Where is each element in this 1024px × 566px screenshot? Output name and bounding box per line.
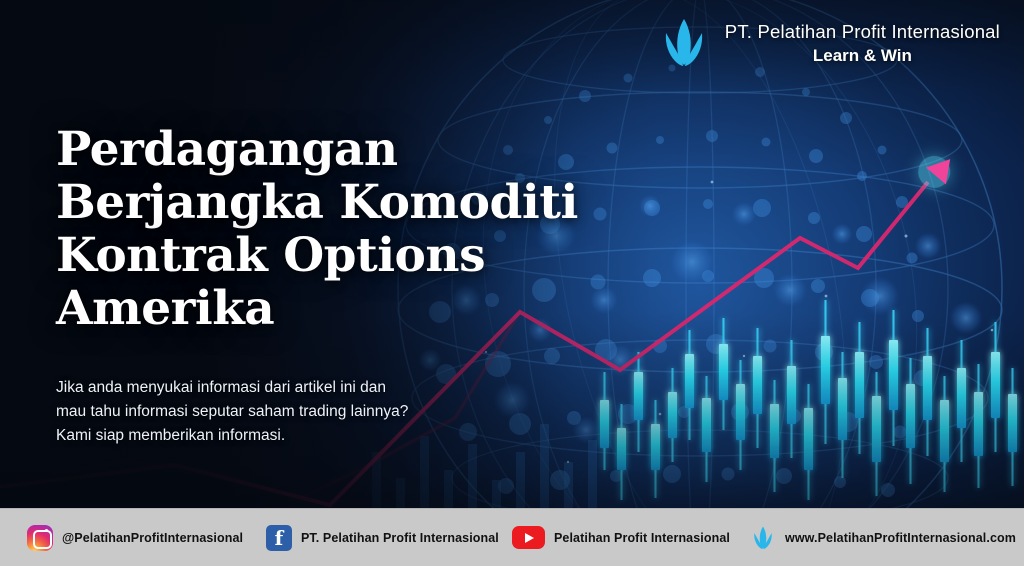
- facebook-page-name: PT. Pelatihan Profit Internasional: [301, 531, 499, 545]
- page-title: Perdagangan Berjangka Komoditi Kontrak O…: [56, 123, 696, 335]
- social-link-youtube[interactable]: Pelatihan Profit Internasional: [512, 526, 730, 549]
- banner-subtext: Jika anda menyukai informasi dari artike…: [56, 376, 576, 448]
- lotus-icon: [657, 16, 711, 70]
- brand-lockup: PT. Pelatihan Profit Internasional Learn…: [657, 16, 1000, 70]
- social-link-facebook[interactable]: f PT. Pelatihan Profit Internasional: [266, 525, 499, 551]
- social-footer-bar: @PelatihanProfitInternasional f PT. Pela…: [0, 508, 1024, 566]
- promotional-banner: PT. Pelatihan Profit Internasional Learn…: [0, 0, 1024, 566]
- facebook-icon: f: [266, 525, 292, 551]
- website-url: www.PelatihanProfitInternasional.com: [785, 531, 1016, 545]
- youtube-icon: [512, 526, 545, 549]
- brand-company: PT. Pelatihan Profit Internasional: [725, 20, 1000, 44]
- lotus-icon: [750, 525, 776, 551]
- instagram-handle: @PelatihanProfitInternasional: [62, 531, 243, 545]
- social-link-instagram[interactable]: @PelatihanProfitInternasional: [27, 525, 243, 551]
- instagram-icon: [27, 525, 53, 551]
- brand-tagline: Learn & Win: [725, 44, 1000, 67]
- social-link-website[interactable]: www.PelatihanProfitInternasional.com: [750, 525, 1016, 551]
- youtube-channel-name: Pelatihan Profit Internasional: [554, 531, 730, 545]
